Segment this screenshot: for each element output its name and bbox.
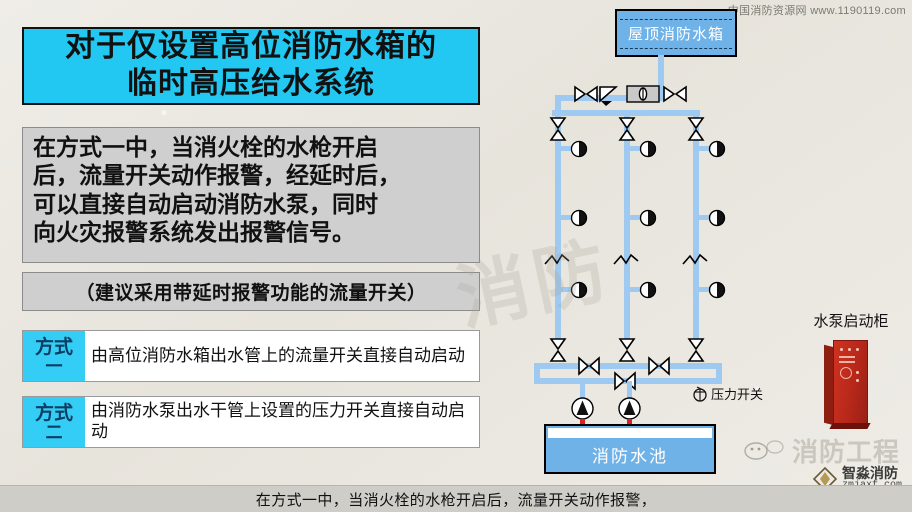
cabinet-gauge-icon xyxy=(840,367,852,379)
gate-valve-icon xyxy=(648,356,670,376)
cabinet-label: 水泵启动柜 xyxy=(791,310,911,331)
check-valve-icon xyxy=(598,84,624,108)
hydrant-icon xyxy=(639,140,657,158)
break-line-icon xyxy=(544,252,570,268)
wechat-cloud-icon xyxy=(740,438,786,462)
method-2-tag: 方式 二 xyxy=(23,397,85,447)
pump-starter-cabinet-group: 水泵启动柜 xyxy=(791,310,911,440)
hydrant-icon xyxy=(570,281,588,299)
suggestion-text: （建议采用带延时报警功能的流量开关） xyxy=(75,278,426,305)
cabinet-front-panel xyxy=(833,340,868,424)
pump-starter-cabinet-icon xyxy=(824,340,868,424)
pressure-switch-annotation: 压力开关 xyxy=(692,384,763,403)
gate-valve-icon xyxy=(617,338,637,362)
gate-valve-icon xyxy=(686,117,706,141)
break-line-icon xyxy=(613,252,639,268)
gate-valve-icon xyxy=(574,84,598,104)
description-panel: 在方式一中，当消火栓的水枪开启 后，流量开关动作报警，经延时后， 可以直接自动启… xyxy=(22,127,480,263)
slide-title: 对于仅设置高位消防水箱的 临时高压给水系统 xyxy=(22,27,480,105)
watermark-bottom-right: 消防工程 智淼消防 zmjaxf.com xyxy=(746,432,906,490)
cabinet-base xyxy=(829,423,870,429)
pump-icon xyxy=(617,396,642,421)
method-2-text: 由消防水泵出水干管上设置的压力开关直接自动启动 xyxy=(91,401,473,442)
roof-tank-label: 屋顶消防水箱 xyxy=(617,11,735,55)
cabinet-panel-bar xyxy=(839,356,855,358)
flow-switch-icon xyxy=(626,85,660,103)
method-2-body: 由消防水泵出水干管上设置的压力开关直接自动启动 xyxy=(85,397,479,447)
watermark-ghost-text: 消防工程 xyxy=(792,432,900,469)
hydrant-icon xyxy=(570,140,588,158)
cabinet-panel-bar xyxy=(839,361,855,363)
method-1-tag-word: 方式 xyxy=(35,338,73,357)
description-line-1: 在方式一中，当消火栓的水枪开启 xyxy=(33,133,469,161)
title-line-1: 对于仅设置高位消防水箱的 xyxy=(65,29,437,66)
gate-valve-icon xyxy=(663,84,687,104)
hydrant-icon xyxy=(708,209,726,227)
method-1-tag-number: 一 xyxy=(46,358,63,375)
pool-air-gap xyxy=(548,428,712,438)
fire-water-pool: 消防水池 xyxy=(544,424,716,474)
system-diagram: 屋顶消防水箱 xyxy=(500,0,912,486)
description-line-2: 后，流量开关动作报警，经延时后， xyxy=(33,161,469,189)
description-line-4: 向火灾报警系统发出报警信号。 xyxy=(33,218,469,246)
gate-valve-icon xyxy=(548,338,568,362)
manifold-upper-pipe xyxy=(534,363,722,369)
cabinet-indicator-dot xyxy=(856,348,859,351)
hydrant-icon xyxy=(708,281,726,299)
gate-valve-icon xyxy=(578,356,600,376)
cabinet-indicator-dot xyxy=(840,348,843,351)
hydrant-icon xyxy=(570,209,588,227)
pump-icon xyxy=(570,396,595,421)
gate-valve-icon xyxy=(548,117,568,141)
brand-name: 智淼消防 xyxy=(842,466,902,481)
hydrant-icon xyxy=(639,281,657,299)
hydrant-icon xyxy=(708,140,726,158)
suggestion-panel: （建议采用带延时报警功能的流量开关） xyxy=(22,272,480,311)
method-1-text: 由高位消防水箱出水管上的流量开关直接自动启动 xyxy=(91,346,465,367)
method-row-1: 方式 一 由高位消防水箱出水管上的流量开关直接自动启动 xyxy=(22,330,480,382)
method-2-tag-number: 二 xyxy=(46,424,63,441)
hydrant-icon xyxy=(639,209,657,227)
method-1-tag: 方式 一 xyxy=(23,331,85,381)
gate-valve-icon xyxy=(617,117,637,141)
pressure-switch-icon xyxy=(692,386,708,402)
gate-valve-icon xyxy=(614,371,636,391)
caption-bar: 在方式一中，当消火栓的水枪开启后，流量开关动作报警， xyxy=(0,485,912,512)
description-line-3: 可以直接自动启动消防水泵，同时 xyxy=(33,190,469,218)
title-line-2: 临时高压给水系统 xyxy=(127,66,375,103)
break-line-icon xyxy=(682,252,708,268)
caption-text: 在方式一中，当消火栓的水枪开启后，流量开关动作报警， xyxy=(256,489,656,510)
cabinet-indicator-dot xyxy=(856,371,859,374)
slide-root: 中国消防资源网 www.1190119.com 对于仅设置高位消防水箱的 临时高… xyxy=(0,0,912,512)
cabinet-indicator-dot xyxy=(848,348,851,351)
method-1-body: 由高位消防水箱出水管上的流量开关直接自动启动 xyxy=(85,331,479,381)
method-row-2: 方式 二 由消防水泵出水干管上设置的压力开关直接自动启动 xyxy=(22,396,480,448)
roof-water-tank: 屋顶消防水箱 xyxy=(615,9,737,57)
cabinet-indicator-dot xyxy=(856,379,859,382)
pool-label: 消防水池 xyxy=(546,442,714,467)
pressure-switch-label: 压力开关 xyxy=(711,384,763,403)
method-2-tag-word: 方式 xyxy=(35,404,73,423)
gate-valve-icon xyxy=(686,338,706,362)
